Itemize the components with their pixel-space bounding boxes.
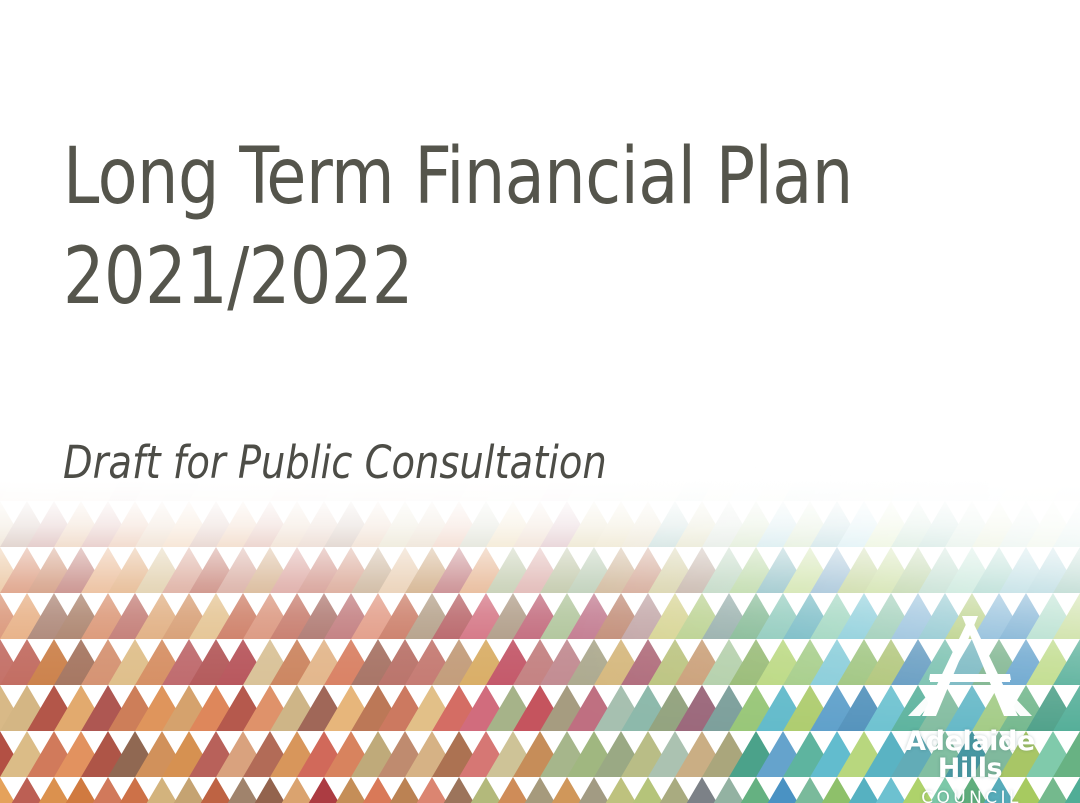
logo-wordmark: Adelaide Hills xyxy=(872,728,1068,782)
logo-subword: COUNCIL xyxy=(872,790,1068,803)
slide-canvas: Long Term Financial Plan 2021/2022 Draft… xyxy=(0,0,1080,803)
page-subtitle: Draft for Public Consultation xyxy=(63,328,975,489)
adelaide-hills-council-logo: Adelaide Hills COUNCIL xyxy=(872,612,1068,792)
adelaide-hills-a-monogram-icon xyxy=(896,612,1044,722)
title-block: Long Term Financial Plan 2021/2022 Draft… xyxy=(63,128,1023,489)
page-title: Long Term Financial Plan 2021/2022 xyxy=(63,128,956,328)
